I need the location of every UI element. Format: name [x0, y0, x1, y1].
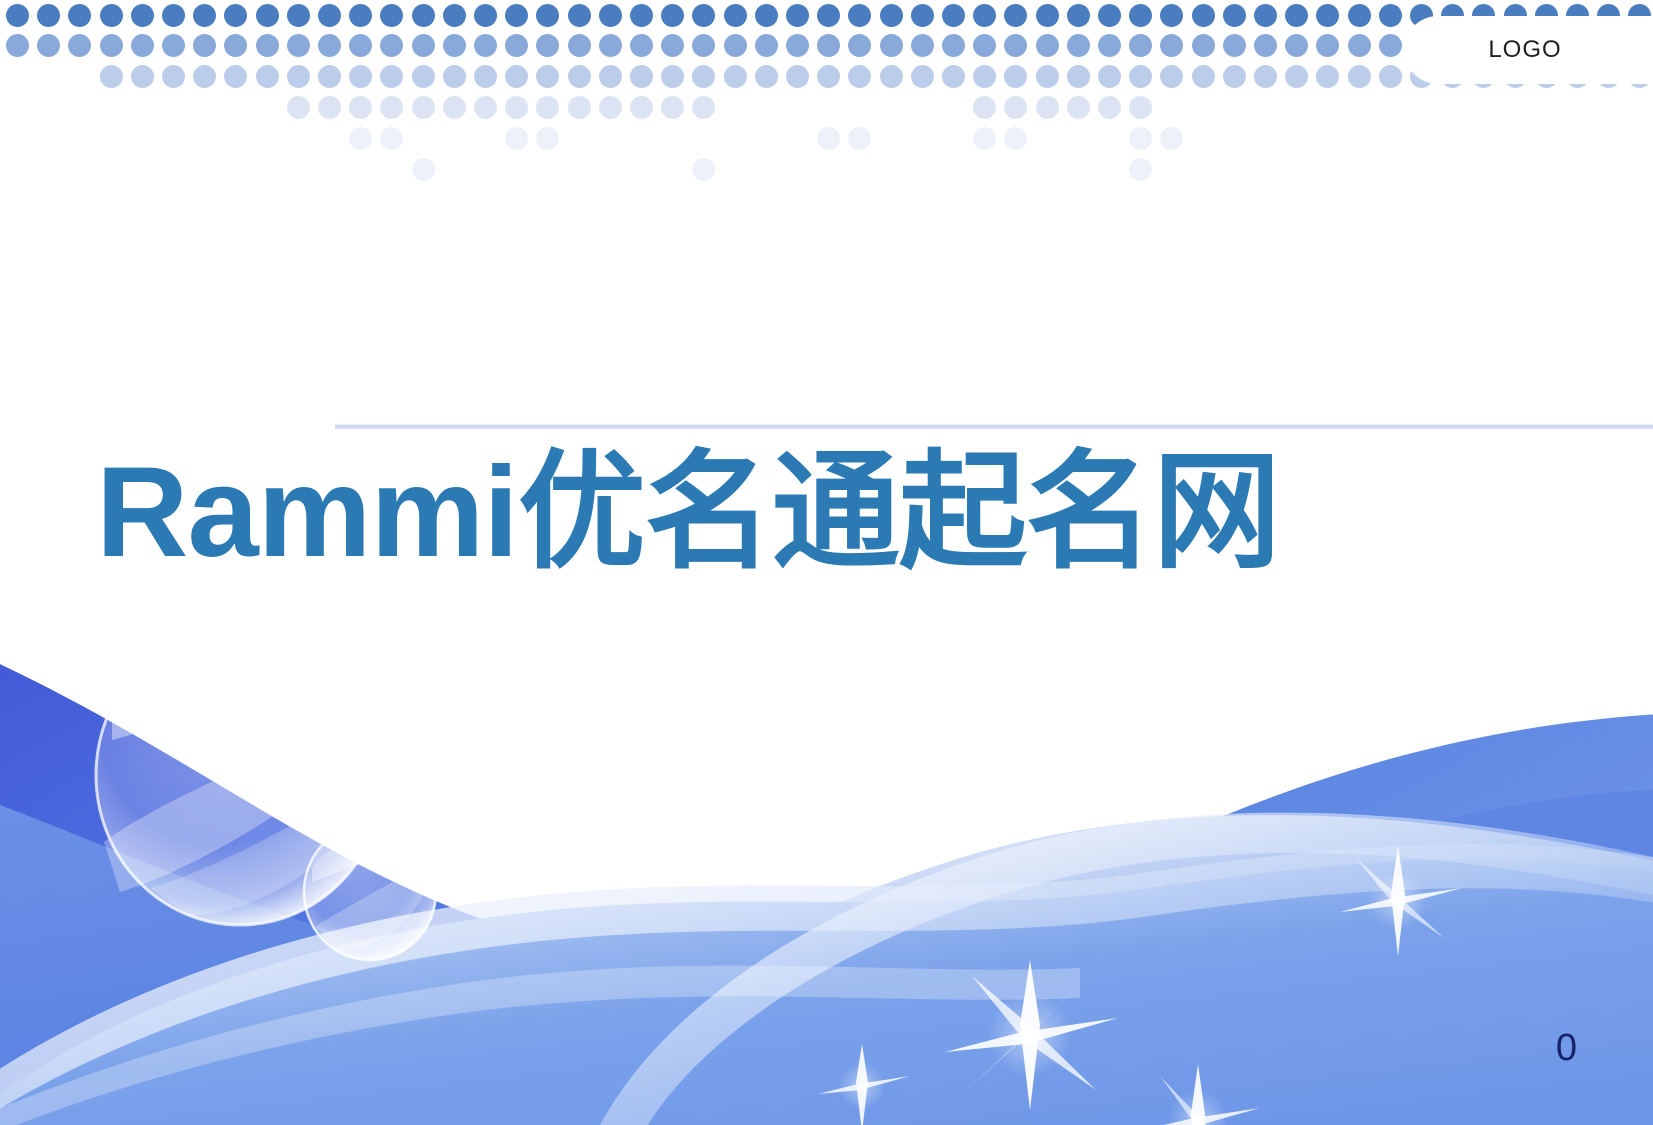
pattern-dot — [911, 65, 934, 88]
pattern-dot — [599, 34, 622, 57]
pattern-dot — [1098, 34, 1121, 57]
pattern-dot — [536, 4, 559, 27]
pattern-dot — [1004, 96, 1027, 119]
pattern-dot — [568, 65, 591, 88]
pattern-dot — [1067, 34, 1090, 57]
pattern-dot — [755, 65, 778, 88]
pattern-dot — [786, 65, 809, 88]
pattern-dot — [536, 127, 559, 150]
slide-canvas: LOGO Rammi优名通起名网 — [0, 0, 1653, 1125]
pattern-dot — [443, 4, 466, 27]
pattern-dot — [68, 34, 91, 57]
pattern-dot — [412, 4, 435, 27]
pattern-dot — [1192, 34, 1215, 57]
pattern-dot — [193, 65, 216, 88]
pattern-dot — [474, 34, 497, 57]
pattern-dot — [224, 4, 247, 27]
pattern-dot — [880, 65, 903, 88]
pattern-dot — [474, 96, 497, 119]
pattern-dot — [1004, 4, 1027, 27]
pattern-dot — [505, 96, 528, 119]
pattern-dot — [599, 4, 622, 27]
pattern-dot — [973, 96, 996, 119]
pattern-dot — [256, 34, 279, 57]
pattern-dot — [1160, 127, 1183, 150]
pattern-dot — [380, 127, 403, 150]
pattern-dot — [68, 4, 91, 27]
page-number: 0 — [1556, 1029, 1577, 1067]
pattern-dot — [1254, 65, 1277, 88]
pattern-dot — [973, 127, 996, 150]
pattern-dot — [973, 4, 996, 27]
pattern-dot — [1316, 34, 1339, 57]
pattern-dot — [162, 4, 185, 27]
pattern-dot — [131, 34, 154, 57]
pattern-dot — [505, 4, 528, 27]
pattern-dot — [848, 34, 871, 57]
pattern-dot — [412, 158, 435, 181]
pattern-dot — [131, 4, 154, 27]
title-block: Rammi优名通起名网 — [0, 408, 1653, 618]
pattern-dot — [1192, 4, 1215, 27]
pattern-dot — [692, 34, 715, 57]
pattern-dot — [1160, 65, 1183, 88]
pattern-dot — [37, 4, 60, 27]
pattern-dot — [1348, 4, 1371, 27]
pattern-dot — [6, 4, 29, 27]
pattern-dot — [1223, 4, 1246, 27]
pattern-dot — [380, 4, 403, 27]
pattern-dot — [724, 65, 747, 88]
pattern-dot — [1036, 96, 1059, 119]
pattern-dot — [1067, 96, 1090, 119]
pattern-dot — [1285, 34, 1308, 57]
pattern-dot — [630, 4, 653, 27]
pattern-dot — [349, 96, 372, 119]
pattern-dot — [256, 4, 279, 27]
pattern-dot — [1098, 4, 1121, 27]
pattern-dot — [1129, 127, 1152, 150]
pattern-dot — [412, 65, 435, 88]
pattern-dot — [505, 34, 528, 57]
pattern-dot — [131, 65, 154, 88]
pattern-dot — [724, 34, 747, 57]
pattern-dot — [848, 4, 871, 27]
pattern-dot — [443, 96, 466, 119]
pattern-dot — [412, 34, 435, 57]
pattern-dot — [973, 34, 996, 57]
pattern-dot — [193, 4, 216, 27]
pattern-dot — [568, 96, 591, 119]
pattern-dot — [661, 96, 684, 119]
pattern-dot — [1129, 4, 1152, 27]
pattern-dot — [380, 96, 403, 119]
pattern-dot — [162, 34, 185, 57]
pattern-dot — [100, 34, 123, 57]
pattern-dot — [1316, 65, 1339, 88]
pattern-dot — [162, 65, 185, 88]
pattern-dot — [911, 4, 934, 27]
pattern-dot — [224, 65, 247, 88]
pattern-dot — [536, 96, 559, 119]
pattern-dot — [1379, 34, 1402, 57]
pattern-dot — [599, 96, 622, 119]
pattern-dot — [287, 65, 310, 88]
pattern-dot — [1036, 4, 1059, 27]
pattern-dot — [568, 34, 591, 57]
pattern-dot — [692, 65, 715, 88]
pattern-dot — [318, 96, 341, 119]
pattern-dot — [349, 4, 372, 27]
pattern-dot — [817, 127, 840, 150]
logo-label: LOGO — [1488, 36, 1561, 64]
pattern-dot — [786, 4, 809, 27]
pattern-dot — [630, 96, 653, 119]
pattern-dot — [318, 65, 341, 88]
pattern-dot — [1316, 4, 1339, 27]
pattern-dot — [443, 34, 466, 57]
pattern-dot — [817, 4, 840, 27]
pattern-dot — [568, 4, 591, 27]
pattern-dot — [1160, 34, 1183, 57]
pattern-dot — [1098, 65, 1121, 88]
pattern-dot — [630, 65, 653, 88]
pattern-dot — [287, 96, 310, 119]
pattern-dot — [380, 65, 403, 88]
pattern-dot — [1160, 4, 1183, 27]
pattern-dot — [1036, 65, 1059, 88]
pattern-dot — [443, 65, 466, 88]
pattern-dot — [412, 96, 435, 119]
pattern-dot — [724, 4, 747, 27]
pattern-dot — [880, 4, 903, 27]
bubble-small — [304, 824, 436, 960]
pattern-dot — [848, 65, 871, 88]
pattern-dot — [37, 34, 60, 57]
pattern-dot — [318, 34, 341, 57]
pattern-dot — [1285, 65, 1308, 88]
pattern-dot — [1129, 65, 1152, 88]
pattern-dot — [1098, 96, 1121, 119]
wave-bubble-artwork — [0, 620, 1653, 1125]
pattern-dot — [1129, 34, 1152, 57]
pattern-dot — [911, 34, 934, 57]
pattern-dot — [755, 4, 778, 27]
pattern-dot — [193, 34, 216, 57]
pattern-dot — [6, 34, 29, 57]
pattern-dot — [474, 4, 497, 27]
pattern-dot — [942, 4, 965, 27]
pattern-dot — [661, 4, 684, 27]
pattern-dot — [536, 65, 559, 88]
pattern-dot — [692, 4, 715, 27]
pattern-dot — [287, 34, 310, 57]
pattern-dot — [630, 34, 653, 57]
pattern-dot — [1004, 65, 1027, 88]
pattern-dot — [287, 4, 310, 27]
pattern-dot — [536, 34, 559, 57]
pattern-dot — [474, 65, 497, 88]
pattern-dot — [1223, 65, 1246, 88]
pattern-dot — [848, 127, 871, 150]
pattern-dot — [1129, 158, 1152, 181]
pattern-dot — [942, 34, 965, 57]
pattern-dot — [1004, 34, 1027, 57]
pattern-dot — [1223, 34, 1246, 57]
pattern-dot — [100, 4, 123, 27]
pattern-dot — [755, 34, 778, 57]
pattern-dot — [1348, 34, 1371, 57]
pattern-dot — [224, 34, 247, 57]
pattern-dot — [599, 65, 622, 88]
pattern-dot — [1285, 4, 1308, 27]
pattern-dot — [1036, 34, 1059, 57]
pattern-dot — [349, 34, 372, 57]
pattern-dot — [692, 158, 715, 181]
pattern-dot — [1004, 127, 1027, 150]
pattern-dot — [349, 127, 372, 150]
pattern-dot — [973, 65, 996, 88]
pattern-dot — [786, 34, 809, 57]
pattern-dot — [1067, 4, 1090, 27]
pattern-dot — [692, 96, 715, 119]
pattern-dot — [1379, 4, 1402, 27]
pattern-dot — [1192, 65, 1215, 88]
pattern-dot — [505, 127, 528, 150]
logo-placeholder[interactable]: LOGO — [1404, 16, 1653, 84]
pattern-dot — [1067, 65, 1090, 88]
pattern-dot — [318, 4, 341, 27]
pattern-dot — [1379, 65, 1402, 88]
pattern-dot — [817, 34, 840, 57]
pattern-dot — [817, 65, 840, 88]
pattern-dot — [1348, 65, 1371, 88]
pattern-dot — [1254, 34, 1277, 57]
pattern-dot — [256, 65, 279, 88]
pattern-dot — [661, 65, 684, 88]
pattern-dot — [1254, 4, 1277, 27]
pattern-dot — [661, 34, 684, 57]
pattern-dot — [1129, 96, 1152, 119]
pattern-dot — [942, 65, 965, 88]
world-map-dot-pattern — [0, 0, 1653, 200]
pattern-dot — [380, 34, 403, 57]
pattern-dot — [349, 65, 372, 88]
pattern-dot — [505, 65, 528, 88]
pattern-dot — [100, 65, 123, 88]
page-title: Rammi优名通起名网 — [96, 449, 1280, 577]
pattern-dot — [880, 34, 903, 57]
